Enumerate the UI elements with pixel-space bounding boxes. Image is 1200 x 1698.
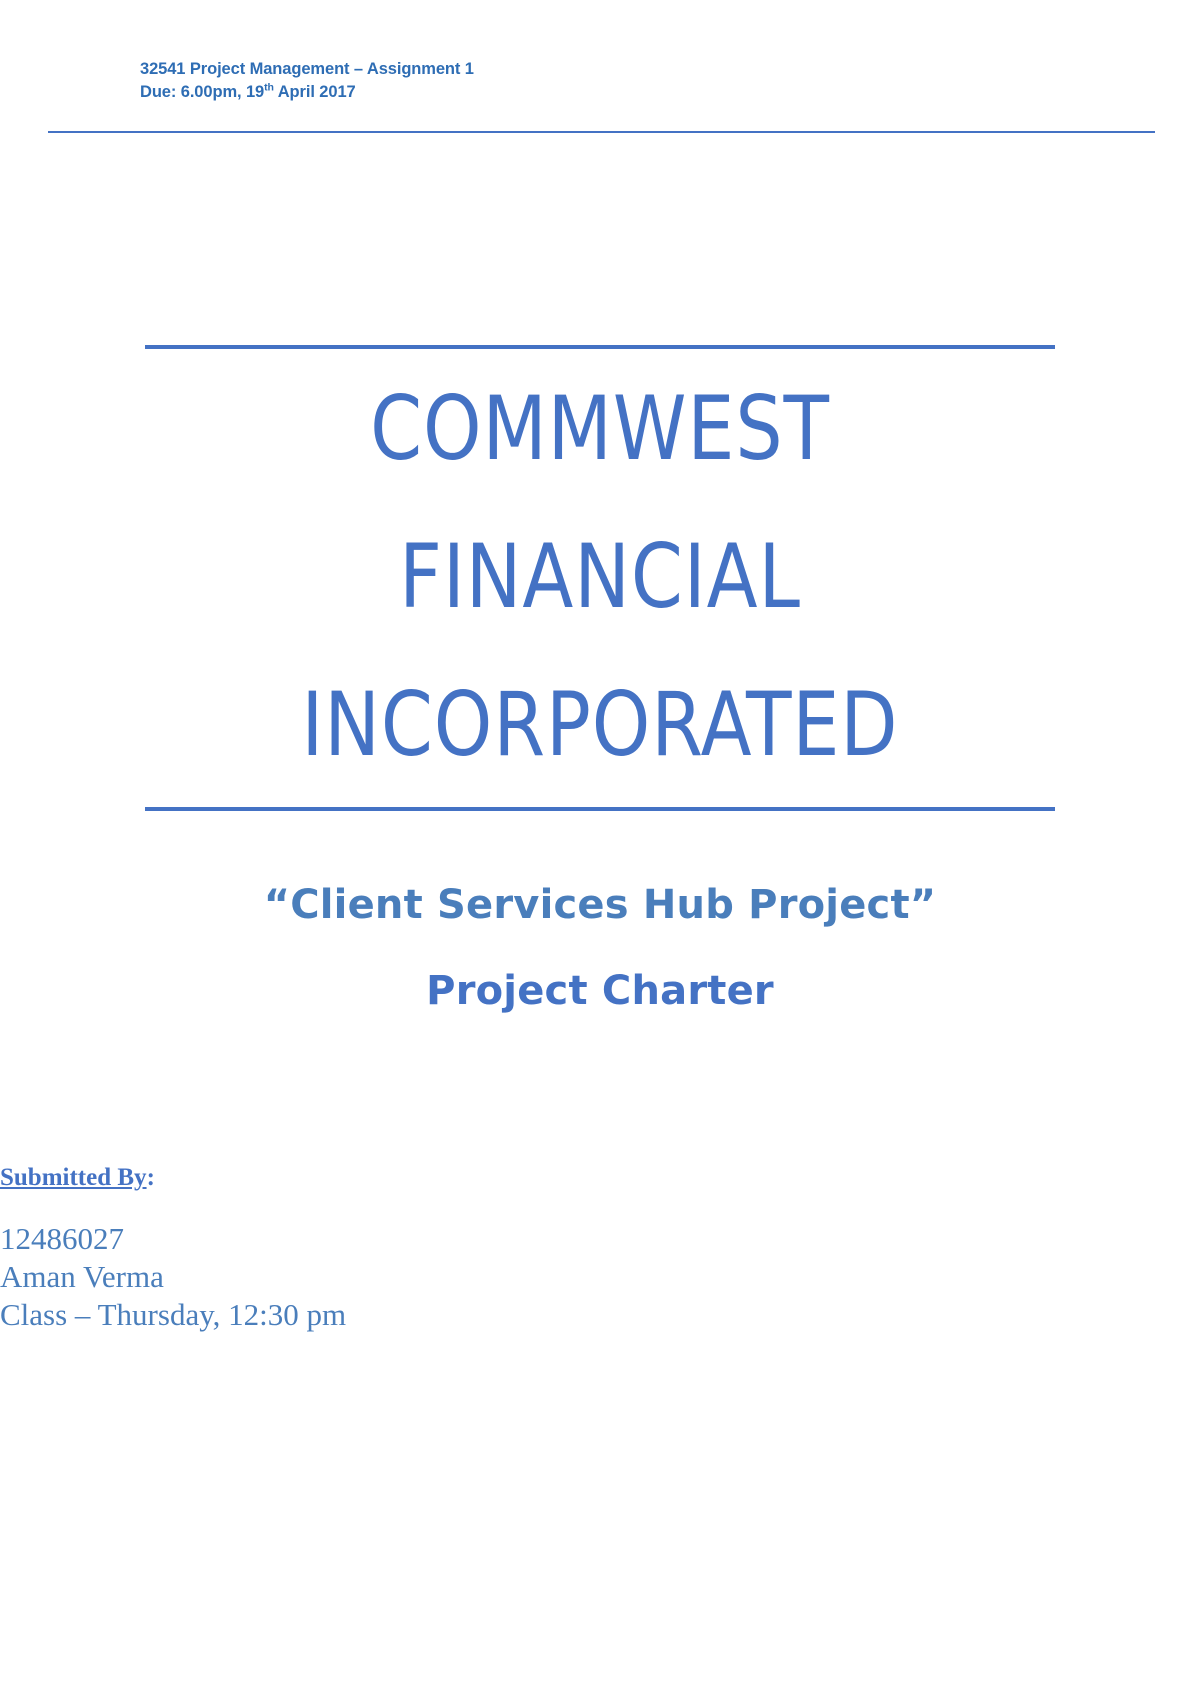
submission-block: Submitted By: 12486027 Aman Verma Class … [0, 1158, 700, 1334]
header-due-date-line: Due: 6.00pm, 19th April 2017 [140, 81, 1040, 104]
due-date-suffix: April 2017 [274, 83, 356, 101]
title-bottom-border [145, 807, 1055, 811]
student-id: 12486027 [0, 1220, 700, 1258]
submission-details: 12486027 Aman Verma Class – Thursday, 12… [0, 1220, 700, 1334]
subtitle-area: “Client Services Hub Project” Project Ch… [145, 862, 1055, 1034]
header-divider [48, 131, 1155, 133]
company-name-line-3: INCORPORATED [172, 651, 1027, 799]
company-name-lines: COMMWEST FINANCIAL INCORPORATED [145, 349, 1055, 807]
document-header: 32541 Project Management – Assignment 1 … [140, 58, 1040, 104]
submitted-by-colon: : [147, 1164, 155, 1191]
project-name-subtitle: “Client Services Hub Project” [145, 862, 1055, 948]
document-page: 32541 Project Management – Assignment 1 … [0, 0, 1200, 1698]
due-date-ordinal-suffix: th [264, 82, 274, 94]
company-name-line-2: FINANCIAL [172, 503, 1027, 651]
document-type-subtitle: Project Charter [145, 948, 1055, 1034]
student-name: Aman Verma [0, 1258, 700, 1296]
class-info: Class – Thursday, 12:30 pm [0, 1296, 700, 1334]
company-name-line-1: COMMWEST [172, 355, 1027, 503]
header-course-line: 32541 Project Management – Assignment 1 [140, 58, 1040, 81]
submitted-by-text: Submitted By [0, 1164, 147, 1191]
title-block: COMMWEST FINANCIAL INCORPORATED [145, 345, 1055, 811]
due-date-prefix: Due: 6.00pm, 19 [140, 83, 264, 101]
submitted-by-label: Submitted By: [0, 1158, 700, 1198]
